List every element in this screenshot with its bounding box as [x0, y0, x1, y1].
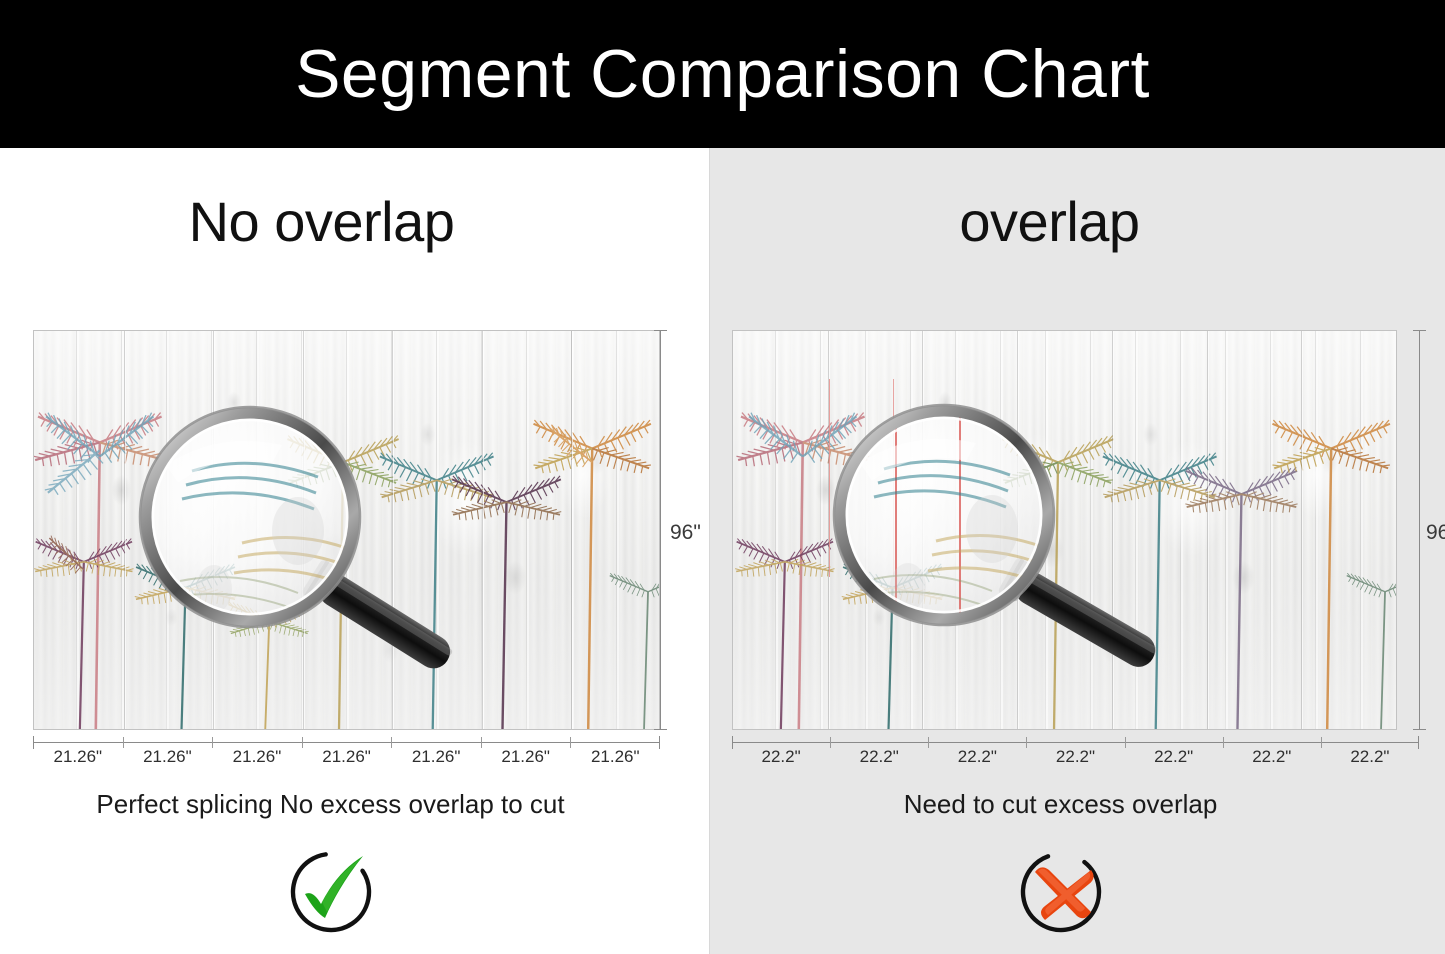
segment-label: 21.26" [123, 748, 213, 765]
width-dimension-ticks-left [33, 742, 660, 743]
segment-label: 21.26" [212, 748, 302, 765]
segment-label: 22.2" [1223, 748, 1321, 765]
width-dimension-ticks-right [732, 742, 1419, 743]
height-dimension-label-left: 96" [670, 522, 701, 543]
mural-figure-no-overlap [33, 330, 660, 730]
panel-no-overlap: No overlap [0, 148, 709, 954]
height-dimension-line-left [660, 330, 661, 730]
segment-width-labels-right: 22.2" 22.2" 22.2" 22.2" 22.2" 22.2" 22.2… [732, 748, 1419, 765]
caption-no-overlap: Perfect splicing No excess overlap to cu… [0, 791, 709, 817]
segment-label: 21.26" [391, 748, 481, 765]
segment-label: 22.2" [1321, 748, 1419, 765]
width-dimension-line-left [33, 742, 660, 743]
mural-figure-overlap [732, 330, 1397, 730]
panel-overlap: overlap [709, 148, 1445, 954]
segment-label: 21.26" [570, 748, 660, 765]
caption-overlap: Need to cut excess overlap [710, 791, 1445, 817]
overlap-seam-markers [733, 331, 1396, 729]
verdict-no-overlap [0, 842, 709, 942]
panel-heading-no-overlap: No overlap [0, 194, 709, 250]
segment-label: 22.2" [732, 748, 830, 765]
mural-segment-seams [34, 331, 659, 729]
width-dimension-line-right [732, 742, 1419, 743]
segment-label: 21.26" [481, 748, 571, 765]
page-title: Segment Comparison Chart [295, 40, 1150, 108]
panel-heading-overlap: overlap [710, 194, 1445, 250]
cross-circle-icon [1011, 842, 1111, 942]
mural-frame [33, 330, 660, 730]
verdict-overlap [710, 842, 1445, 942]
segment-label: 22.2" [830, 748, 928, 765]
segment-label: 22.2" [928, 748, 1026, 765]
segment-label: 21.26" [33, 748, 123, 765]
check-circle-icon [281, 842, 381, 942]
mural-frame [732, 330, 1397, 730]
height-dimension-line-right [1419, 330, 1420, 730]
title-banner: Segment Comparison Chart [0, 0, 1445, 148]
segment-label: 22.2" [1125, 748, 1223, 765]
segment-width-labels-left: 21.26" 21.26" 21.26" 21.26" 21.26" 21.26… [33, 748, 660, 765]
segment-label: 22.2" [1026, 748, 1124, 765]
comparison-panels: No overlap [0, 148, 1445, 954]
height-dimension-label-right: 96" [1426, 522, 1445, 543]
segment-label: 21.26" [302, 748, 392, 765]
